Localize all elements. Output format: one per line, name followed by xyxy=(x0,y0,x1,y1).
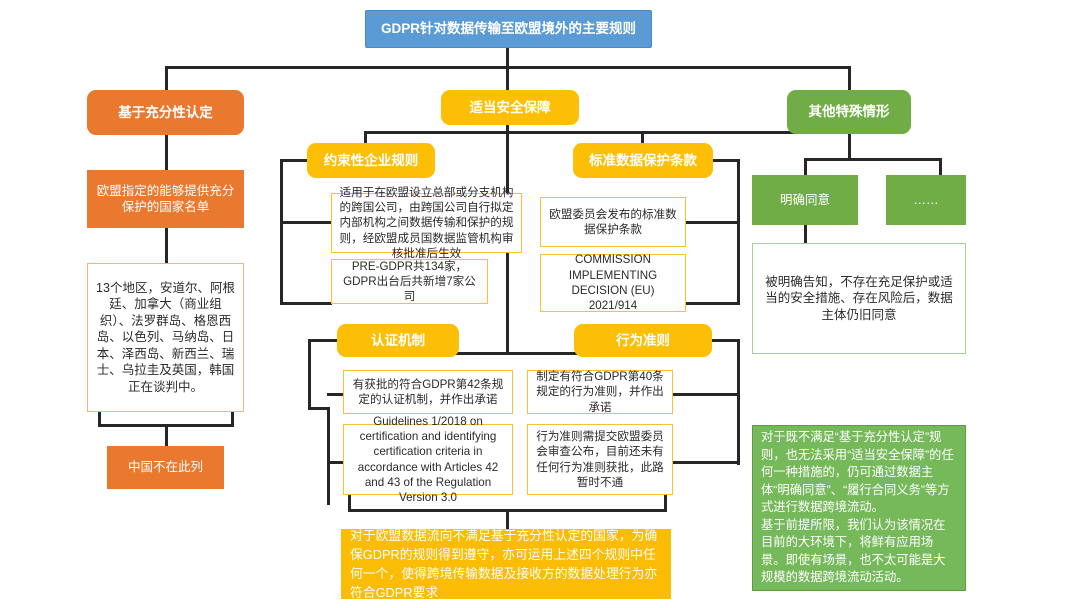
bcr-detail[interactable]: 适用于在欧盟设立总部或分支机构的跨国公司，由跨国公司自行拟定内部机构之间数据传输… xyxy=(331,193,522,253)
safeguards-summary[interactable]: 对于欧盟数据流向不满足基于充分性认定的国家，为确保GDPR的规则得到遵守，亦可运… xyxy=(341,529,671,599)
sccs-detail[interactable]: 欧盟委员会发布的标准数据保护条款 xyxy=(540,197,686,247)
connector-coc-to-status xyxy=(672,461,740,464)
connector-bcr-left-stub xyxy=(280,159,309,162)
connector-certification-spine-upper xyxy=(308,339,311,410)
connector-coc-right-stub xyxy=(710,339,740,342)
connector-consent-to-detail xyxy=(804,225,807,244)
connector-coc-spine xyxy=(737,339,740,465)
bcr-statistics[interactable]: PRE-GDPR共134家，GDPR出台后共新增7家公司 xyxy=(331,259,488,304)
certification-reference-guidelines[interactable]: Guidelines 1/2018 on certification and i… xyxy=(343,424,513,495)
connector-safeguards-top-bar xyxy=(364,131,804,134)
connector-drop-other xyxy=(848,66,851,91)
connector-bcr-to-detail xyxy=(280,221,332,224)
connector-root-stem xyxy=(506,48,509,68)
safeguard-node-sccs[interactable]: 标准数据保护条款 xyxy=(573,143,713,178)
connector-countries-to-note xyxy=(165,424,168,446)
connector-drop-adequacy xyxy=(165,66,168,91)
connector-bcr-spine xyxy=(280,159,283,305)
diagram-canvas: GDPR针对数据传输至欧盟境外的主要规则 基于充分性认定 欧盟指定的能够提供充分… xyxy=(0,0,1080,608)
adequacy-note-china-excluded[interactable]: 中国不在此列 xyxy=(107,446,224,489)
adequacy-country-list-header[interactable]: 欧盟指定的能够提供充分保护的国家名单 xyxy=(87,170,244,228)
sccs-reference-decision[interactable]: COMMISSION IMPLEMENTING DECISION (EU) 20… xyxy=(540,254,686,312)
root-node-gdpr-main-rules[interactable]: GDPR针对数据传输至欧盟境外的主要规则 xyxy=(365,10,652,48)
adequacy-country-list[interactable]: 13个地区，安道尔、阿根廷、加拿大（商业组织）、法罗群岛、格恩西岛、以色列、马纳… xyxy=(87,263,244,412)
connector-drop-safeguards xyxy=(506,66,509,91)
safeguard-node-code-of-conduct[interactable]: 行为准则 xyxy=(574,324,712,357)
branch-node-adequacy-decision[interactable]: 基于充分性认定 xyxy=(87,90,244,135)
connector-sccs-right-stub xyxy=(711,159,740,162)
connector-adequacy-to-list xyxy=(165,135,168,171)
branch-node-other-special-cases[interactable]: 其他特殊情形 xyxy=(787,90,911,134)
coc-status[interactable]: 行为准则需提交欧盟委员会审查公布，目前还未有任何行为准则获批，此路暂时不通 xyxy=(527,424,673,495)
connector-bcr-to-stat xyxy=(280,302,332,305)
explicit-consent-detail[interactable]: 被明确告知，不存在充足保护或适当的安全措施、存在风险后，数据主体仍旧同意 xyxy=(752,243,966,354)
connector-sccs-to-detail xyxy=(686,221,740,224)
other-cases-commentary[interactable]: 对于既不满足“基于充分性认定”规则，也无法采用“适当安全保障”的任何一种措施的，… xyxy=(752,425,966,591)
connector-other-stem xyxy=(848,134,851,160)
connector-sccs-to-reference xyxy=(686,302,740,305)
branch-node-appropriate-safeguards[interactable]: 适当安全保障 xyxy=(441,90,579,125)
other-node-explicit-consent[interactable]: 明确同意 xyxy=(752,175,858,225)
connector-list-to-countries xyxy=(165,228,168,264)
connector-other-bar xyxy=(804,158,942,161)
safeguard-node-certification[interactable]: 认证机制 xyxy=(337,324,459,357)
connector-certification-spine-lower xyxy=(327,407,330,505)
certification-detail[interactable]: 有获批的符合GDPR第42条规定的认证机制，并作出承诺 xyxy=(343,370,513,414)
connector-certification-left-stub xyxy=(308,339,339,342)
safeguard-node-bcr[interactable]: 约束性企业规则 xyxy=(307,143,435,178)
other-node-ellipsis[interactable]: …… xyxy=(886,175,966,225)
coc-detail[interactable]: 制定有符合GDPR第40条规定的行为准则，并作出承诺 xyxy=(527,370,673,414)
connector-coc-to-detail xyxy=(672,393,740,396)
connector-sccs-spine xyxy=(737,159,740,305)
